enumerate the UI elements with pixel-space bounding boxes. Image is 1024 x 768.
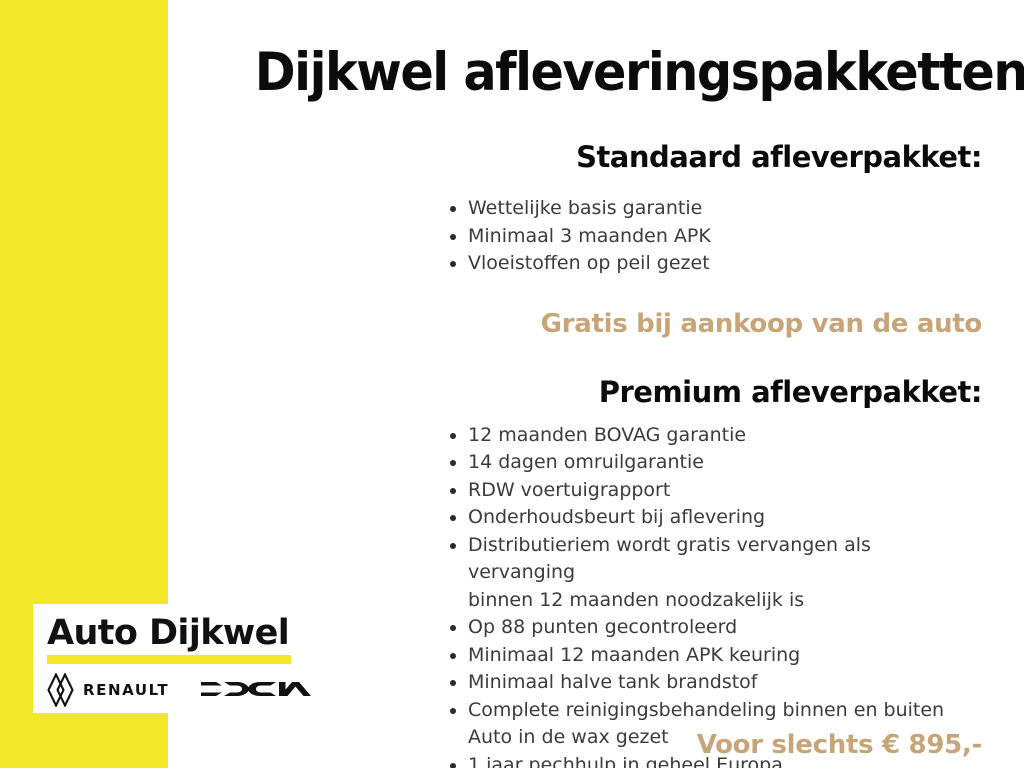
list-item: Minimaal 12 maanden APK keuring bbox=[450, 642, 982, 670]
list-item-label: Minimaal 12 maanden APK keuring bbox=[468, 642, 982, 670]
standard-package-heading: Standaard afleverpakket: bbox=[200, 140, 982, 174]
list-item-label: Complete reinigingsbehandeling binnen en… bbox=[468, 697, 982, 725]
poster-content: Dijkwel afleveringspakketten Standaard a… bbox=[200, 0, 982, 768]
premium-package-list: 12 maanden BOVAG garantie 14 dagen omrui… bbox=[200, 422, 982, 768]
dealer-name-wordmark: Auto Dijkwel bbox=[47, 614, 301, 652]
list-item: Op 88 punten gecontroleerd bbox=[450, 614, 982, 642]
list-item-label: Distributieriem wordt gratis vervangen a… bbox=[468, 532, 982, 587]
list-item: 14 dagen omruilgarantie bbox=[450, 449, 982, 477]
list-item: 12 maanden BOVAG garantie bbox=[450, 422, 982, 450]
standard-package-note: Gratis bij aankoop van de auto bbox=[200, 309, 982, 339]
standard-package-list: Wettelijke basis garantie Minimaal 3 maa… bbox=[200, 195, 982, 278]
bullet-icon bbox=[450, 543, 456, 549]
list-item: Onderhoudsbeurt bij aflevering bbox=[450, 504, 982, 532]
bullet-icon bbox=[450, 515, 456, 521]
list-item: Distributieriem wordt gratis vervangen a… bbox=[450, 532, 982, 615]
list-item-label: Vloeistoffen op peil gezet bbox=[468, 250, 982, 278]
list-item: RDW voertuigrapport bbox=[450, 477, 982, 505]
bullet-icon bbox=[450, 261, 456, 267]
list-item-label: 12 maanden BOVAG garantie bbox=[468, 422, 982, 450]
dacia-wordmark bbox=[201, 679, 311, 701]
list-item-label-continued: binnen 12 maanden noodzakelijk is bbox=[468, 587, 982, 615]
bullet-icon bbox=[450, 488, 456, 494]
list-item-label: Minimaal halve tank brandstof bbox=[468, 669, 982, 697]
logo-yellow-rule bbox=[47, 655, 291, 664]
list-item-label: 14 dagen omruilgarantie bbox=[468, 449, 982, 477]
bullet-icon bbox=[450, 680, 456, 686]
list-item: Wettelijke basis garantie bbox=[450, 195, 982, 223]
poster-canvas: Dijkwel afleveringspakketten Standaard a… bbox=[0, 0, 1024, 768]
bullet-icon bbox=[450, 460, 456, 466]
renault-diamond-icon bbox=[47, 673, 74, 707]
list-item: Vloeistoffen op peil gezet bbox=[450, 250, 982, 278]
bullet-icon bbox=[450, 433, 456, 439]
dealer-logo: Auto Dijkwel RENAULT bbox=[33, 604, 301, 713]
list-item-label: RDW voertuigrapport bbox=[468, 477, 982, 505]
list-item-label: Onderhoudsbeurt bij aflevering bbox=[468, 504, 982, 532]
page-title: Dijkwel afleveringspakketten bbox=[255, 0, 982, 102]
list-item-label: Wettelijke basis garantie bbox=[468, 195, 982, 223]
bullet-icon bbox=[450, 206, 456, 212]
renault-wordmark: RENAULT bbox=[83, 681, 169, 699]
bullet-icon bbox=[450, 708, 456, 714]
list-item: Minimaal 3 maanden APK bbox=[450, 223, 982, 251]
bullet-icon bbox=[450, 625, 456, 631]
premium-package-heading: Premium afleverpakket: bbox=[200, 375, 982, 409]
list-item-label: Minimaal 3 maanden APK bbox=[468, 223, 982, 251]
list-item-label: Op 88 punten gecontroleerd bbox=[468, 614, 982, 642]
brand-row: RENAULT bbox=[47, 673, 301, 707]
bullet-icon bbox=[450, 234, 456, 240]
list-item: Minimaal halve tank brandstof bbox=[450, 669, 982, 697]
bullet-icon bbox=[450, 763, 456, 768]
bullet-icon bbox=[450, 653, 456, 659]
premium-package-price: Voor slechts € 895,- bbox=[697, 730, 982, 760]
